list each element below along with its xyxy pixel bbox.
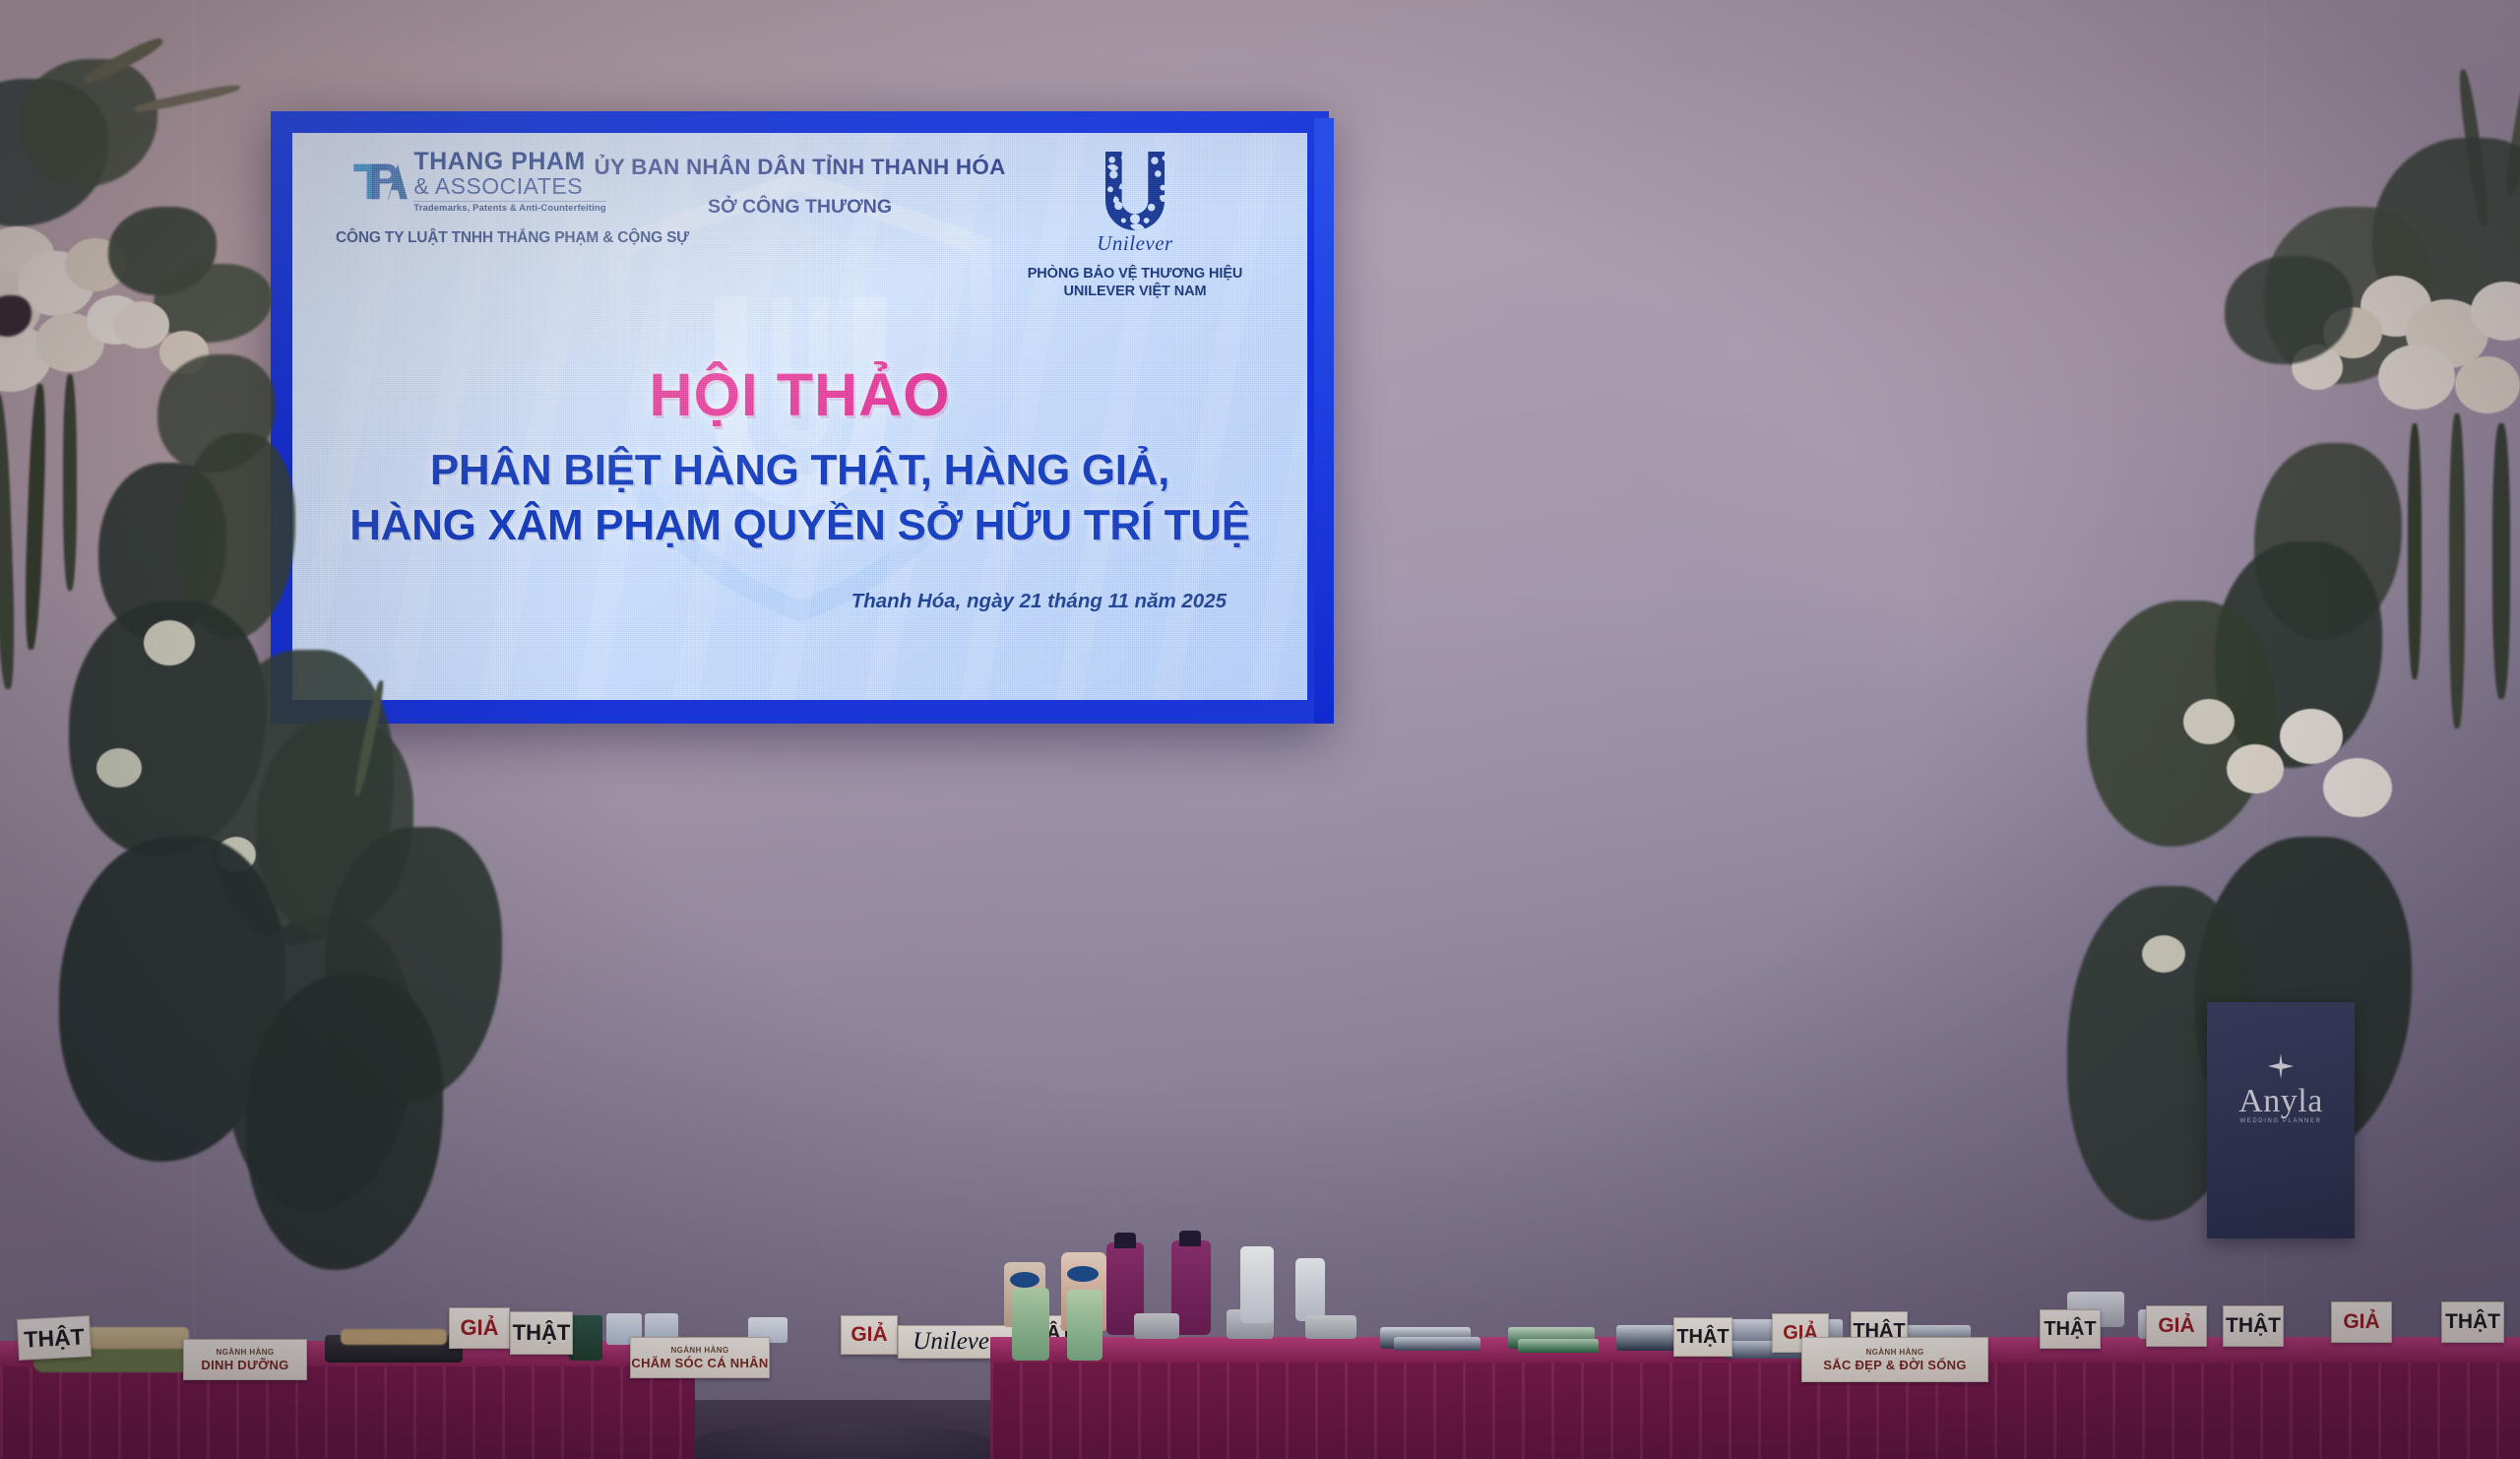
tpa-company-subtitle: CÔNG TY LUẬT TNHH THẮNG PHẠM & CỘNG SỰ: [336, 229, 621, 247]
label-card-counterfeit: GIẢ: [2146, 1305, 2207, 1347]
label-card-counterfeit: GIẢ: [841, 1315, 898, 1355]
anyla-tagline: WEDDING PLANNER: [2207, 1118, 2355, 1124]
card-category-main: DINH DƯỠNG: [201, 1358, 288, 1372]
label-card-authentic: THẬT: [2040, 1309, 2101, 1349]
slide-date: Thanh Hóa, ngày 21 tháng 11 năm 2025: [851, 590, 1227, 613]
product-bottle-white: [1240, 1246, 1274, 1323]
card-category-main: SẮC ĐẸP & ĐỜI SỐNG: [1823, 1358, 1967, 1372]
card-label: GIẢ: [460, 1315, 498, 1341]
slide-subtitle-line1: PHÂN BIỆT HÀNG THẬT, HÀNG GIẢ,: [292, 446, 1307, 495]
tpa-monogram-icon: [350, 158, 408, 205]
product-pump-cap: [1179, 1231, 1201, 1246]
label-card-category-nutrition: NGÀNH HÀNG DINH DƯỠNG: [183, 1339, 307, 1380]
product-sachet-strip: [1518, 1339, 1599, 1353]
unilever-sub-line1: PHÒNG BẢO VỆ THƯƠNG HIỆU: [1002, 265, 1268, 283]
label-card-counterfeit: GIẢ: [2331, 1301, 2392, 1343]
photo-scene: THANG PHAM & ASSOCIATES Trademarks, Pate…: [0, 0, 2520, 1459]
chair-back: [695, 1424, 990, 1459]
unilever-logo: Unilever PHÒNG BẢO VỆ THƯƠNG HIỆU UNILEV…: [1002, 147, 1268, 300]
card-category-top: NGÀNH HÀNG: [1865, 1348, 1923, 1357]
card-label: Unilever: [913, 1328, 998, 1356]
table-skirt-left: [0, 1366, 695, 1459]
label-card-category-personal-care: NGÀNH HÀNG CHĂM SÓC CÁ NHÂN: [630, 1337, 770, 1378]
card-label: THẬT: [2226, 1314, 2281, 1338]
anyla-brand-name: Anyla: [2207, 1083, 2355, 1120]
product-display-snacks: [341, 1329, 447, 1345]
product-vaseline-badge: [1067, 1266, 1099, 1282]
organizer-line2: SỞ CÔNG THƯƠNG: [544, 196, 1056, 219]
card-label: THẬT: [513, 1320, 571, 1346]
presentation-slide: THANG PHAM & ASSOCIATES Trademarks, Pate…: [292, 133, 1307, 700]
card-label: GIẢ: [2158, 1314, 2194, 1338]
unilever-sub-line2: UNILEVER VIỆT NAM: [1002, 283, 1268, 300]
card-category-top: NGÀNH HÀNG: [216, 1348, 274, 1357]
card-label: THẬT: [1676, 1326, 1729, 1349]
label-card-authentic: THẬT: [510, 1311, 573, 1355]
card-category-top: NGÀNH HÀNG: [670, 1346, 728, 1355]
card-label: GIẢ: [2343, 1310, 2379, 1334]
organizer-line1: ỦY BAN NHÂN DÂN TỈNH THANH HÓA: [544, 155, 1056, 180]
unilever-u-icon: [1094, 147, 1176, 235]
anyla-banner: Anyla WEDDING PLANNER: [2207, 1002, 2355, 1238]
card-label: THẬT: [2445, 1310, 2500, 1334]
card-category-main: CHĂM SÓC CÁ NHÂN: [631, 1356, 768, 1370]
table-skirt-right: [990, 1363, 2520, 1459]
product-pump-cap: [1114, 1233, 1136, 1248]
card-label: THẬT: [2044, 1318, 2096, 1341]
product-sachet-strip: [1394, 1337, 1480, 1351]
product-box-dark: [569, 1315, 602, 1361]
sparkle-icon: [2268, 1053, 2294, 1079]
label-card-authentic: THẬT: [2441, 1301, 2504, 1343]
label-card-authentic: THẬT: [17, 1315, 92, 1361]
product-green-tube: [1012, 1288, 1049, 1361]
unilever-wordmark: Unilever: [1002, 231, 1268, 256]
label-card-category-beauty: NGÀNH HÀNG SẮC ĐẸP & ĐỜI SỐNG: [1801, 1337, 1988, 1382]
slide-title: HỘI THẢO: [292, 360, 1307, 429]
product-bottle-white: [1295, 1258, 1325, 1321]
label-card-authentic: THẬT: [1673, 1317, 1732, 1357]
led-screen-frame-right: [1314, 118, 1334, 724]
card-label: GIẢ: [850, 1323, 887, 1347]
product-jar: [1305, 1315, 1356, 1339]
label-card-authentic: THẬT: [2223, 1305, 2284, 1347]
product-green-tube: [1067, 1290, 1102, 1361]
label-card-counterfeit: GIẢ: [449, 1307, 510, 1349]
led-screen-surface: THANG PHAM & ASSOCIATES Trademarks, Pate…: [292, 133, 1307, 700]
product-sachet-strip: [1616, 1325, 1677, 1351]
organizer-header: ỦY BAN NHÂN DÂN TỈNH THANH HÓA SỞ CÔNG T…: [544, 155, 1056, 219]
product-jar: [1134, 1313, 1179, 1339]
card-label: THẬT: [24, 1323, 86, 1353]
slide-subtitle-line2: HÀNG XÂM PHẠM QUYỀN SỞ HỮU TRÍ TUỆ: [292, 501, 1307, 550]
product-vaseline-badge: [1010, 1272, 1039, 1288]
